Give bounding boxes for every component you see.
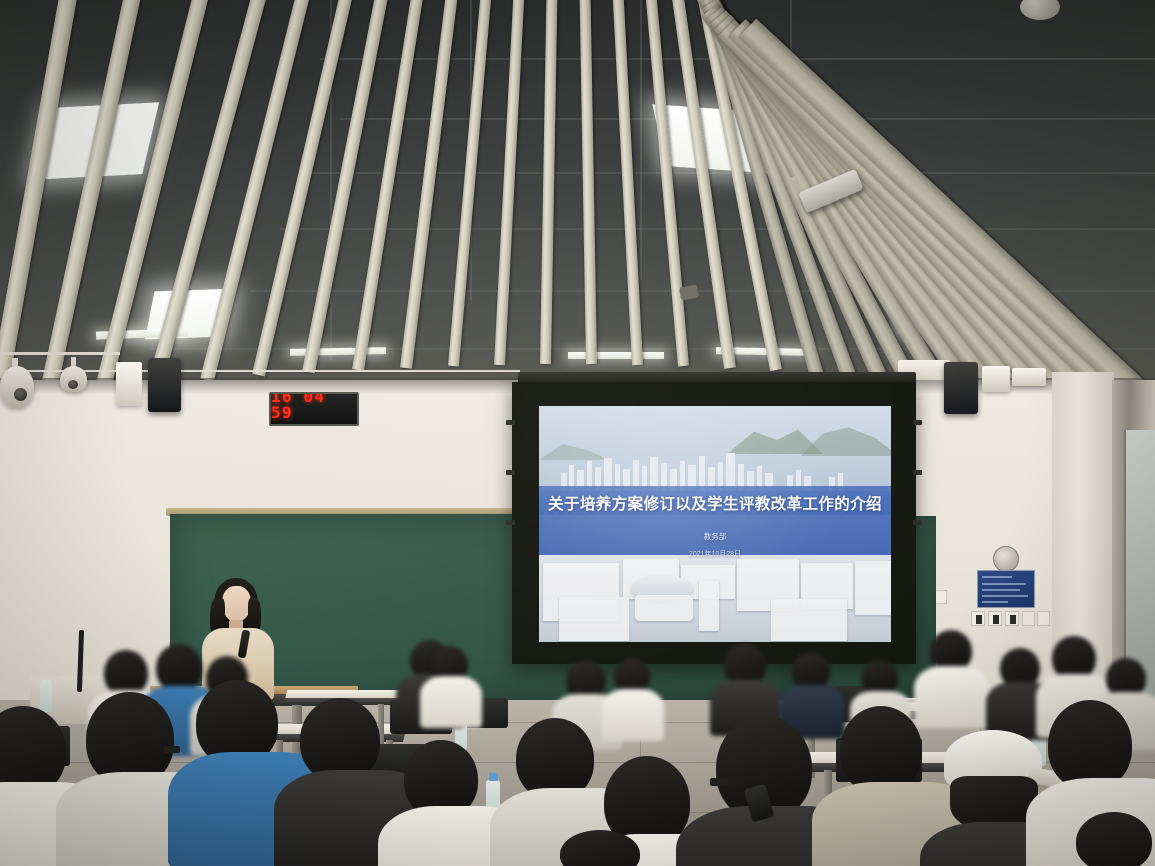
classroom-info-sign xyxy=(977,570,1035,608)
glasses-icon xyxy=(710,778,728,786)
chair xyxy=(390,700,452,734)
presenter-face xyxy=(222,586,251,622)
slide-subtitle: 教务部 xyxy=(539,531,891,542)
camera-lens-icon xyxy=(14,388,27,401)
slide-content: 关于培养方案修订以及学生评教改革工作的介绍 教务部 2021年10月28日 xyxy=(539,406,891,642)
bottle-cap xyxy=(1035,717,1044,725)
slide-title: 关于培养方案修订以及学生评教改革工作的介绍 xyxy=(539,492,891,514)
ceiling-dome-speaker xyxy=(1020,0,1060,20)
wall-outlet[interactable] xyxy=(1022,611,1035,626)
ceiling-tube-light xyxy=(568,352,664,359)
wall-equipment-box xyxy=(116,362,142,406)
led-clock: 16 04 59 星期四 温度 湿度 xyxy=(269,392,359,426)
water-bottle xyxy=(40,680,52,712)
light-switch-panel[interactable] xyxy=(971,611,985,626)
wall-clock-emblem-icon xyxy=(993,546,1019,572)
light-switch-panel[interactable] xyxy=(988,611,1002,626)
glasses-icon xyxy=(164,746,180,753)
clock-time: 16 04 59 xyxy=(271,392,357,421)
wall-speaker-right xyxy=(944,362,978,414)
ceiling xyxy=(0,0,1155,392)
wall-outlet[interactable] xyxy=(1037,611,1050,626)
wall-equipment-box xyxy=(982,366,1010,392)
ceiling-speaker xyxy=(679,285,699,301)
wall-equipment-box xyxy=(1012,368,1046,386)
lecture-hall-photo: 16 04 59 星期四 温度 湿度 xyxy=(0,0,1155,866)
clock-subtext: 星期四 温度 湿度 xyxy=(299,424,330,426)
wall-speaker-left xyxy=(148,358,181,412)
slide-date: 2021年10月28日 xyxy=(539,549,891,559)
light-switch-panel[interactable] xyxy=(1005,611,1019,626)
slide-campus-photo xyxy=(539,555,891,642)
camera-lens-icon xyxy=(68,380,78,389)
ptz-camera-icon xyxy=(0,366,34,408)
bottle-cap xyxy=(489,773,498,781)
bottle-cap xyxy=(457,712,465,719)
